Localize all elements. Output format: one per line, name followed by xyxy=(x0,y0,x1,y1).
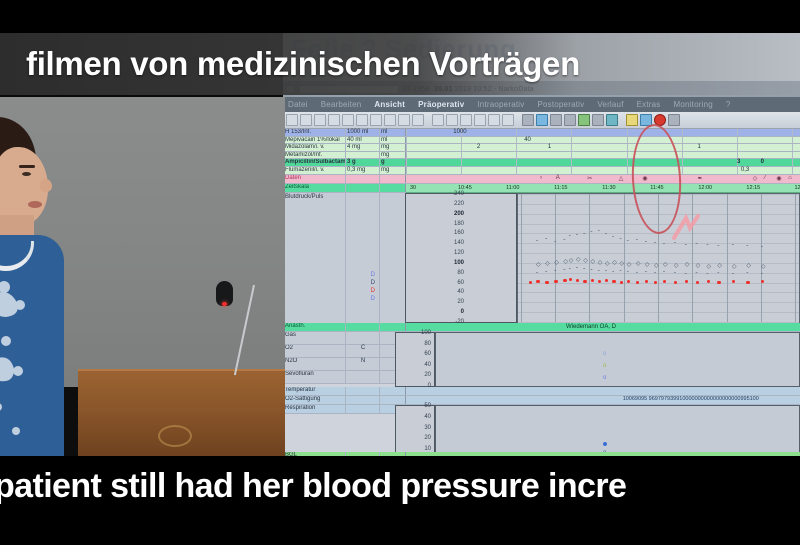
grid-line-vertical xyxy=(761,194,762,322)
medication-timeline[interactable]: 40 xyxy=(405,137,800,144)
bp-data-point-v: ˇ xyxy=(732,245,734,251)
gas-y-tick: 40 xyxy=(424,362,431,368)
time-ruler: 3010:4511:0011:1511:3011:4512:0012:1512: xyxy=(406,184,800,193)
grid-line xyxy=(627,152,628,159)
event-marker-icon[interactable]: △ xyxy=(619,175,624,182)
bp-y-tick: 220 xyxy=(454,201,464,207)
menu-item-bearbeiten[interactable]: Bearbeiten xyxy=(321,100,362,109)
grid-line-vertical xyxy=(658,194,659,322)
bp-data-point-v: ˇ xyxy=(627,241,629,247)
bp-data-point-mean xyxy=(696,281,699,284)
chart-blue-icon[interactable] xyxy=(536,114,548,126)
bp-data-point-mean xyxy=(746,281,749,284)
grid-line xyxy=(737,137,738,144)
bp-data-point-mean xyxy=(569,278,572,281)
event-marker-icon[interactable]: A xyxy=(556,175,560,181)
bp-data-point-v: ˇ xyxy=(612,237,614,243)
medication-timeline[interactable]: 30 xyxy=(405,159,800,166)
grid-line-vertical xyxy=(521,194,522,322)
gas-row-code xyxy=(345,332,379,344)
speaker-eye xyxy=(22,172,31,176)
grid-line-vertical xyxy=(692,194,693,322)
events-dose-cell xyxy=(345,175,379,183)
vital-row-dose xyxy=(345,405,379,413)
toolbar[interactable] xyxy=(283,112,800,129)
bp-data-point-caret: ˆ xyxy=(645,272,647,278)
medication-value: 40 xyxy=(524,137,531,143)
gas-y-tick: 80 xyxy=(424,341,431,347)
bp-data-point-diamond: ◇ xyxy=(746,263,751,269)
paste-icon[interactable] xyxy=(356,114,368,126)
grid-line xyxy=(682,144,683,151)
bp-data-point-caret: ˆ xyxy=(591,270,593,276)
save-icon[interactable] xyxy=(314,114,326,126)
bp-data-point-v: ˇ xyxy=(663,244,665,250)
bp-letters-column: DDDD xyxy=(345,193,379,323)
bp-data-point-mean xyxy=(563,279,566,282)
event-marker-icon[interactable]: › xyxy=(540,175,542,181)
vital-row-timeline[interactable] xyxy=(405,387,800,395)
bp-data-point-v: ˇ xyxy=(654,243,656,249)
bp-data-point-diamond: ◇ xyxy=(554,260,559,266)
bp-data-point-v: ˇ xyxy=(674,243,676,249)
grid-line xyxy=(406,152,407,159)
anesthetist-unit-cell xyxy=(379,323,405,331)
gas-row-label: Gas xyxy=(283,332,345,344)
view-teal-icon[interactable] xyxy=(606,114,618,126)
bp-data-point-mean xyxy=(636,281,639,284)
grid-line xyxy=(682,129,683,136)
respiration-y-tick: 30 xyxy=(424,425,431,431)
vital-row-timeline[interactable]: 10069095 9697979399100000000000000000009… xyxy=(405,396,800,404)
time-tick-label: 30 xyxy=(410,185,416,191)
medication-timeline[interactable]: 0,3 xyxy=(405,167,800,174)
bp-drawer-letter: D xyxy=(347,279,379,287)
bp-data-point-mean xyxy=(612,280,615,283)
bp-y-tick: 140 xyxy=(454,240,464,246)
bp-data-point-caret: ˆ xyxy=(583,269,585,275)
medication-timeline[interactable]: 211 xyxy=(405,144,800,151)
medication-value: 1000 xyxy=(453,129,466,135)
anesthetist-label: Anästh. xyxy=(283,323,345,331)
medication-value: 3 xyxy=(737,159,740,165)
scale-unit-cell xyxy=(379,184,405,192)
bp-data-point-diamond: ◇ xyxy=(605,261,610,267)
event-marker-icon[interactable]: ◇ xyxy=(753,175,758,182)
bp-data-point-caret: ˆ xyxy=(654,273,656,279)
gas-row-code: C xyxy=(345,345,379,357)
bp-data-point-v: ˇ xyxy=(563,240,565,246)
medication-row[interactable]: Mepivacain 1%/lokal40 mlml40 xyxy=(283,137,800,145)
bp-data-point-v: ˇ xyxy=(576,235,578,241)
grid-line xyxy=(627,144,628,151)
medication-row[interactable]: Ampicillin/Sulbactam/Inf.3 gg30 xyxy=(283,159,800,167)
medication-unit: mg xyxy=(379,144,405,151)
grid-line xyxy=(627,137,628,144)
grid-line-vertical xyxy=(555,194,556,322)
bp-data-point-mean xyxy=(536,280,539,283)
medication-value: 2 xyxy=(477,144,480,150)
bp-chart-area[interactable]: 240220200180160140120100806040200-20 ˇˇˇ… xyxy=(405,193,800,323)
monitor-blue-icon[interactable] xyxy=(640,114,652,126)
respiration-marker-dot xyxy=(603,442,607,446)
bp-data-point-v: ˇ xyxy=(569,236,571,242)
speaker-photo xyxy=(0,97,285,456)
medication-dose xyxy=(345,152,379,159)
gas-row-label: Sevofluran xyxy=(283,371,345,383)
grid-line xyxy=(571,167,572,174)
bp-data-point-diamond: ◇ xyxy=(536,262,541,268)
gas-row-label: O2 xyxy=(283,345,345,357)
vital-row-label: Respiration xyxy=(283,405,345,413)
bp-data-point-diamond: ◇ xyxy=(663,262,668,268)
top-caption-banner: filmen von medizinischen Vorträgen xyxy=(0,33,800,95)
grid-line xyxy=(516,129,517,136)
respiration-y-tick: 40 xyxy=(424,414,431,420)
medication-row[interactable]: Metamizol/Inf.mg xyxy=(283,152,800,160)
time-tick-label: 11:30 xyxy=(602,185,615,191)
grid-line-vertical xyxy=(727,194,728,322)
respiration-y-tick: 50 xyxy=(424,403,431,409)
edit-icon[interactable] xyxy=(446,114,458,126)
gas-y-tick: 60 xyxy=(424,351,431,357)
bp-data-point-caret: ˆ xyxy=(707,274,709,280)
event-marker-icon[interactable]: ∕ xyxy=(765,175,766,181)
bp-data-point-caret: ˆ xyxy=(620,271,622,277)
bp-data-point-diamond: ◇ xyxy=(636,261,641,267)
bp-data-point-v: ˇ xyxy=(645,242,647,248)
bp-data-point-v: ˇ xyxy=(746,246,748,252)
medication-unit: ml xyxy=(379,129,405,136)
bp-data-point-diamond: ◇ xyxy=(707,264,712,270)
find-icon[interactable] xyxy=(488,114,500,126)
grid-line xyxy=(737,167,738,174)
bp-data-point-v: ˇ xyxy=(685,245,687,251)
vital-row[interactable]: O2-Sättigung10069095 9697979399100000000… xyxy=(283,396,800,405)
grid-line xyxy=(406,159,407,166)
gas-row-label: N2O xyxy=(283,358,345,370)
form-blue-icon[interactable] xyxy=(564,114,576,126)
menu-item--[interactable]: ? xyxy=(726,100,731,109)
gas-data-point: o xyxy=(603,375,606,381)
event-icon-strip[interactable]: ›A✂△◉✒◇∕◉⌂ xyxy=(405,175,800,183)
medication-dose: 0,3 mg xyxy=(345,167,379,174)
grid-line xyxy=(461,159,462,166)
bp-data-point-v: ˇ xyxy=(598,231,600,237)
bp-y-tick: 100 xyxy=(454,260,464,266)
people-icon[interactable] xyxy=(668,114,680,126)
medication-dose: 3 g xyxy=(345,159,379,166)
medication-dose: 4 mg xyxy=(345,144,379,151)
anesthetist-value: Wiedemann OA, D xyxy=(566,324,616,330)
time-scale-row: Zeitskala 3010:4511:0011:1511:3011:4512:… xyxy=(283,184,800,193)
medication-unit: mg xyxy=(379,167,405,174)
bp-y-tick: 20 xyxy=(457,299,464,305)
vital-row-unit xyxy=(379,387,405,395)
bp-data-point-mean xyxy=(545,281,548,284)
gas-plot[interactable]: ooo xyxy=(435,332,800,387)
vital-row-dose xyxy=(345,387,379,395)
bp-data-point-diamond: ◇ xyxy=(674,263,679,269)
grid-line xyxy=(571,129,572,136)
menu-item-datei[interactable]: Datei xyxy=(288,100,308,109)
grid-line xyxy=(792,159,793,166)
grid-line xyxy=(627,159,628,166)
grid-line xyxy=(737,152,738,159)
gas-row-code: N xyxy=(345,358,379,370)
medication-timeline[interactable] xyxy=(405,152,800,159)
bp-data-point-diamond: ◇ xyxy=(612,260,617,266)
window-icon[interactable] xyxy=(432,114,444,126)
anesthesia-record-sheet[interactable]: H 153/Inf.1000 mlml1000Mepivacain 1%/lok… xyxy=(283,129,800,473)
bp-data-point-diamond: ◇ xyxy=(696,263,701,269)
bp-data-point-caret: ˆ xyxy=(576,268,578,274)
toolbar-separator xyxy=(516,114,520,126)
bp-data-point-caret: ˆ xyxy=(612,272,614,278)
bp-data-point-mean xyxy=(654,281,657,284)
vital-row-label: O2-Sättigung xyxy=(283,396,345,404)
gas-y-tick: 100 xyxy=(421,330,431,336)
bp-data-point-diamond: ◇ xyxy=(685,262,690,268)
bp-data-point-caret: ˆ xyxy=(569,269,571,275)
bp-data-point-v: ˇ xyxy=(636,240,638,246)
bp-data-point-caret: ˆ xyxy=(732,274,734,280)
medication-row[interactable]: H 153/Inf.1000 mlml1000 xyxy=(283,129,800,137)
events-row[interactable]: Daten ›A✂△◉✒◇∕◉⌂ xyxy=(283,175,800,184)
gas-y-tick: 20 xyxy=(424,372,431,378)
medication-dose: 40 ml xyxy=(345,137,379,144)
anesthetist-row[interactable]: Anästh. Wiedemann OA, D xyxy=(283,323,800,332)
time-tick-label: 11:00 xyxy=(506,185,519,191)
bp-data-point-diamond: ◇ xyxy=(576,257,581,263)
menu-item-verlauf[interactable]: Verlauf xyxy=(597,100,623,109)
menu-bar[interactable]: DateiBearbeitenAnsichtPräoperativIntraop… xyxy=(283,97,800,112)
anesthetist-dose-cell xyxy=(345,323,379,331)
time-tick-label: 12: xyxy=(794,185,800,191)
bp-plot[interactable]: ˇˇˇˇˇˇˇˇˇˇˇˇˇˇˇˇˇˇˇˇˇˇˇˇˇ◇◇◇◇◇◇◇◇◇◇◇◇◇◇◇… xyxy=(517,193,800,323)
bp-y-tick: 160 xyxy=(454,230,464,236)
check-icon[interactable] xyxy=(370,114,382,126)
medication-name: Metamizol/Inf. xyxy=(283,152,345,159)
bp-data-point-caret: ˆ xyxy=(545,272,547,278)
vital-row[interactable]: Temperatur xyxy=(283,387,800,396)
respiration-y-tick: 20 xyxy=(424,435,431,441)
bp-data-point-diamond: ◇ xyxy=(583,258,588,264)
cut-icon[interactable] xyxy=(328,114,340,126)
menu-item-monitoring[interactable]: Monitoring xyxy=(674,100,713,109)
event-marker-icon[interactable]: ✂ xyxy=(587,175,592,182)
grid-line xyxy=(682,152,683,159)
bp-y-tick: 180 xyxy=(454,221,464,227)
bp-y-tick: 120 xyxy=(454,250,464,256)
grid-line xyxy=(406,144,407,151)
vital-row-label: Temperatur xyxy=(283,387,345,395)
grid-line xyxy=(461,152,462,159)
new-icon[interactable] xyxy=(286,114,298,126)
bp-data-point-caret: ˆ xyxy=(627,272,629,278)
bp-data-point-caret: ˆ xyxy=(563,270,565,276)
menu-item-pr-operativ[interactable]: Präoperativ xyxy=(418,100,464,109)
bp-data-point-v: ˇ xyxy=(545,239,547,245)
bp-data-point-caret: ˆ xyxy=(685,274,687,280)
letterbox-top xyxy=(0,0,800,33)
grid-line xyxy=(571,159,572,166)
bp-data-point-caret: ˆ xyxy=(663,272,665,278)
grid-line xyxy=(627,167,628,174)
speaker-mouth xyxy=(28,201,42,208)
grid-line xyxy=(516,144,517,151)
bp-data-point-v: ˇ xyxy=(620,239,622,245)
bp-data-point-diamond: ◇ xyxy=(654,263,659,269)
bp-data-point-caret: ˆ xyxy=(605,271,607,277)
form-yellow-icon[interactable] xyxy=(592,114,604,126)
bp-data-point-diamond: ◇ xyxy=(717,263,722,269)
bp-y-tick: 0 xyxy=(461,309,464,315)
grid-line xyxy=(792,144,793,151)
top-caption-text: filmen von medizinischen Vorträgen xyxy=(0,45,580,83)
speaker-nose xyxy=(40,179,52,192)
grid-line xyxy=(792,137,793,144)
bottom-caption-text: patient still had her blood pressure inc… xyxy=(0,467,626,506)
grid-line xyxy=(461,137,462,144)
bp-data-point-v: ˇ xyxy=(696,244,698,250)
medication-name: Ampicillin/Sulbactam/Inf. xyxy=(283,159,345,166)
medication-row[interactable]: Midazolam/i. v.4 mgmg211 xyxy=(283,144,800,152)
grid-line xyxy=(571,152,572,159)
toolbar-separator xyxy=(426,114,430,126)
bp-y-tick: 80 xyxy=(457,270,464,276)
medication-value: 1 xyxy=(548,144,551,150)
grid-line xyxy=(516,152,517,159)
form-red-icon[interactable] xyxy=(550,114,562,126)
grid-line xyxy=(461,167,462,174)
stop-red-icon[interactable] xyxy=(654,114,666,126)
menu-item-extras[interactable]: Extras xyxy=(637,100,661,109)
bp-pulse-block[interactable]: Blutdruck/Puls DDDD 24022020018016014012… xyxy=(283,193,800,323)
chart-gray-icon[interactable] xyxy=(522,114,534,126)
grid-line xyxy=(406,167,407,174)
grid-line xyxy=(682,137,683,144)
vital-row-unit xyxy=(379,396,405,404)
grid-line xyxy=(406,129,407,136)
time-tick-label: 11:15 xyxy=(554,185,567,191)
ruler-yellow-icon[interactable] xyxy=(626,114,638,126)
medication-row[interactable]: Flumazenil/i. v.0,3 mgmg0,3 xyxy=(283,167,800,175)
medication-value: 0 xyxy=(761,159,764,165)
grid-line xyxy=(682,159,683,166)
bp-data-point-mean xyxy=(620,281,623,284)
anesthetist-value-host: Wiedemann OA, D xyxy=(405,323,800,331)
bp-data-point-mean xyxy=(583,280,586,283)
grid-line xyxy=(737,144,738,151)
bp-drawer-letter: D xyxy=(347,271,379,279)
medication-name: Midazolam/i. v. xyxy=(283,144,345,151)
medication-value: 0,3 xyxy=(741,167,749,173)
time-tick-label: 11:45 xyxy=(650,185,663,191)
video-frame: Folie 2 Sedierung 07.1956 30.01 2019 10:… xyxy=(0,0,800,545)
bp-data-point-caret: ˆ xyxy=(674,273,676,279)
bp-data-point-mean xyxy=(674,281,677,284)
medication-name: Flumazenil/i. v. xyxy=(283,167,345,174)
bp-data-point-caret: ˆ xyxy=(761,274,763,280)
medication-dose: 1000 ml xyxy=(345,129,379,136)
copy-icon[interactable] xyxy=(342,114,354,126)
speaker-eyebrow xyxy=(19,165,35,168)
events-row-label: Daten xyxy=(283,175,345,183)
grid-line xyxy=(516,137,517,144)
saturation-data-string: 10069095 9697979399100000000000000000009… xyxy=(623,396,759,402)
menu-item-postoperativ[interactable]: Postoperativ xyxy=(537,100,584,109)
grid-line-vertical xyxy=(795,194,796,322)
preview-icon[interactable] xyxy=(474,114,486,126)
bp-data-point-v: ˇ xyxy=(554,242,556,248)
form-green-icon[interactable] xyxy=(578,114,590,126)
event-marker-icon[interactable]: ◉ xyxy=(642,175,647,182)
grid-line xyxy=(571,137,572,144)
grid-line xyxy=(682,167,683,174)
medication-timeline[interactable]: 1000 xyxy=(405,129,800,136)
bp-data-point-diamond: ◇ xyxy=(761,264,766,270)
bp-data-point-v: ˇ xyxy=(717,246,719,252)
bp-data-point-v: ˇ xyxy=(536,241,538,247)
time-tick-label: 12:15 xyxy=(746,185,760,191)
event-marker-icon[interactable]: ◉ xyxy=(776,175,781,182)
grid-line-vertical xyxy=(624,194,625,322)
medication-name: Mepivacain 1%/lokal xyxy=(283,137,345,144)
gas-data-point: o xyxy=(603,351,606,357)
print-icon[interactable] xyxy=(460,114,472,126)
open-icon[interactable] xyxy=(300,114,312,126)
table-icon[interactable] xyxy=(502,114,514,126)
bp-data-point-v: ˇ xyxy=(707,245,709,251)
event-marker-icon[interactable]: ⌂ xyxy=(788,175,792,181)
bp-row-label: Blutdruck/Puls xyxy=(283,193,345,323)
download-icon[interactable] xyxy=(398,114,410,126)
microphone-led-indicator xyxy=(222,302,227,306)
bp-y-tick: 240 xyxy=(454,191,464,197)
bp-drawer-letter: D xyxy=(347,287,379,295)
grid-line xyxy=(792,167,793,174)
bp-data-point-diamond: ◇ xyxy=(591,259,596,265)
bp-data-point-mean xyxy=(717,281,720,284)
grid-line xyxy=(792,129,793,136)
warning-icon[interactable] xyxy=(384,114,396,126)
bp-data-point-v: ˇ xyxy=(605,234,607,240)
grid-line xyxy=(406,137,407,144)
bp-data-point-caret: ˆ xyxy=(746,273,748,279)
bp-drawer-letter: D xyxy=(347,295,379,303)
bottom-caption-bar: patient still had her blood pressure inc… xyxy=(0,461,800,511)
grid-line xyxy=(792,152,793,159)
toolbar-separator xyxy=(620,114,624,126)
bp-data-point-diamond: ◇ xyxy=(563,259,568,265)
time-tick-label: 12:00 xyxy=(698,185,712,191)
podium-emblem xyxy=(158,425,192,447)
menu-item-intraoperativ[interactable]: Intraoperativ xyxy=(477,100,524,109)
speaker-figure xyxy=(0,117,102,456)
grid-line xyxy=(516,159,517,166)
menu-item-ansicht[interactable]: Ansicht xyxy=(374,100,405,109)
bp-y-tick: 200 xyxy=(454,211,464,217)
bp-data-point-diamond: ◇ xyxy=(545,261,550,267)
time-scale-label: Zeitskala xyxy=(283,184,345,192)
bp-data-point-v: ˇ xyxy=(761,247,763,253)
event-marker-icon[interactable]: ✒ xyxy=(698,175,703,182)
upload-icon[interactable] xyxy=(412,114,424,126)
bp-data-point-caret: ˆ xyxy=(696,273,698,279)
bp-y-tick: 40 xyxy=(457,289,464,295)
scale-dose-cell xyxy=(345,184,379,192)
